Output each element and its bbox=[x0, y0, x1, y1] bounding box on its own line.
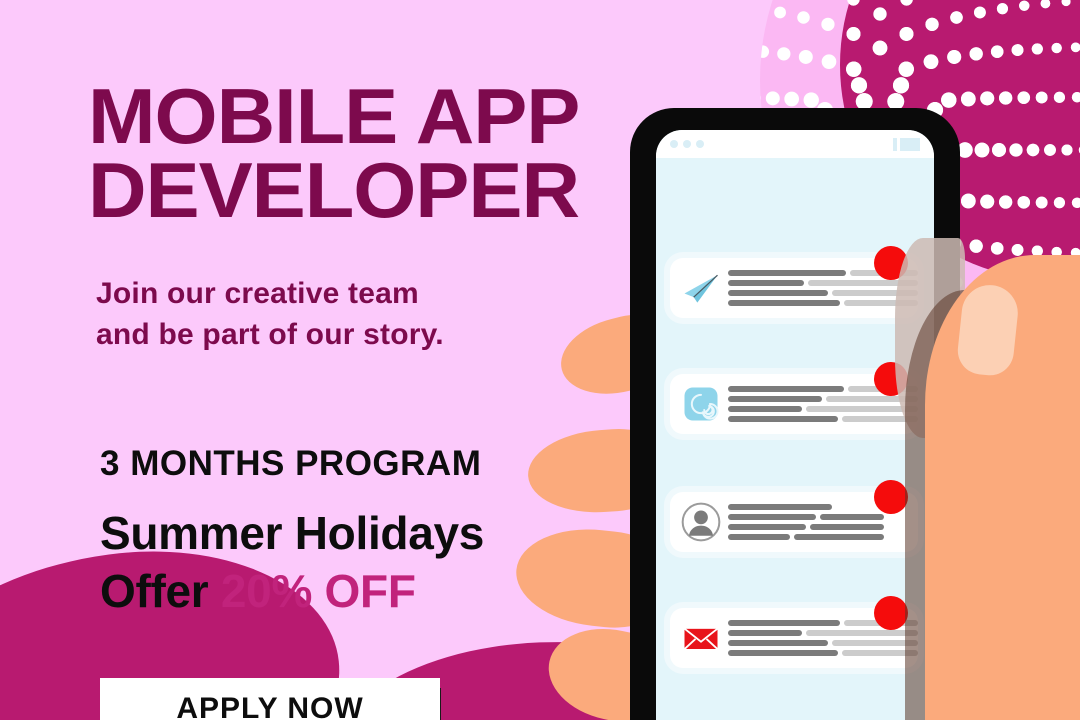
placeholder-bar bbox=[806, 630, 918, 636]
placeholder-bar bbox=[728, 630, 802, 636]
discount-badge: 20% OFF bbox=[221, 565, 416, 617]
paper-plane-icon bbox=[678, 265, 724, 311]
subheadline-line-1: Join our creative team bbox=[96, 277, 419, 310]
poster-canvas: MOBILE APP DEVELOPER Join our creative t… bbox=[0, 0, 1080, 720]
offer-word: Offer bbox=[100, 565, 208, 617]
program-duration-label: 3 MONTHS PROGRAM bbox=[100, 444, 481, 484]
placeholder-line bbox=[728, 524, 908, 530]
placeholder-line bbox=[728, 406, 918, 412]
placeholder-bar bbox=[728, 290, 828, 296]
offer-block: Summer Holidays Offer 20% OFF bbox=[100, 505, 570, 621]
placeholder-bar bbox=[794, 534, 884, 540]
placeholder-line bbox=[728, 640, 918, 646]
placeholder-bar bbox=[728, 280, 804, 286]
placeholder-bar bbox=[810, 524, 884, 530]
placeholder-bar bbox=[728, 514, 816, 520]
placeholder-bar bbox=[728, 640, 828, 646]
notification-badge[interactable] bbox=[874, 480, 908, 514]
subheadline: Join our creative team and be part of ou… bbox=[96, 273, 566, 356]
placeholder-line bbox=[728, 534, 908, 540]
placeholder-bar bbox=[728, 300, 840, 306]
placeholder-line bbox=[728, 396, 918, 402]
placeholder-bar bbox=[728, 386, 844, 392]
placeholder-bar bbox=[728, 504, 832, 510]
spiral-app-icon bbox=[678, 381, 724, 427]
page-title: MOBILE APP DEVELOPER bbox=[88, 80, 670, 227]
avatar-icon bbox=[678, 499, 724, 545]
placeholder-bar bbox=[728, 270, 846, 276]
placeholder-line bbox=[728, 514, 908, 520]
placeholder-line bbox=[728, 280, 918, 286]
placeholder-line bbox=[728, 630, 918, 636]
subheadline-line-2: and be part of our story. bbox=[96, 314, 566, 355]
headline-line-2: DEVELOPER bbox=[88, 154, 670, 227]
offer-line-2: Offer 20% OFF bbox=[100, 563, 570, 621]
placeholder-line bbox=[728, 650, 918, 656]
placeholder-line bbox=[728, 290, 918, 296]
placeholder-bar bbox=[728, 396, 822, 402]
offer-line-1: Summer Holidays bbox=[100, 507, 484, 559]
notification-badge[interactable] bbox=[874, 596, 908, 630]
placeholder-bar bbox=[820, 514, 884, 520]
phone-status-bar bbox=[656, 130, 934, 158]
envelope-icon bbox=[678, 615, 724, 661]
placeholder-bar bbox=[728, 620, 840, 626]
placeholder-line bbox=[728, 300, 918, 306]
placeholder-bar bbox=[728, 416, 838, 422]
placeholder-bar bbox=[728, 650, 838, 656]
three-dots-icon bbox=[670, 140, 704, 148]
placeholder-bar bbox=[728, 406, 802, 412]
battery-indicator-icon bbox=[893, 138, 920, 151]
placeholder-bar bbox=[728, 534, 790, 540]
placeholder-bar bbox=[728, 524, 806, 530]
placeholder-line bbox=[728, 416, 918, 422]
apply-now-button[interactable]: APPLY NOW bbox=[100, 678, 440, 720]
phone-screen bbox=[656, 130, 934, 720]
